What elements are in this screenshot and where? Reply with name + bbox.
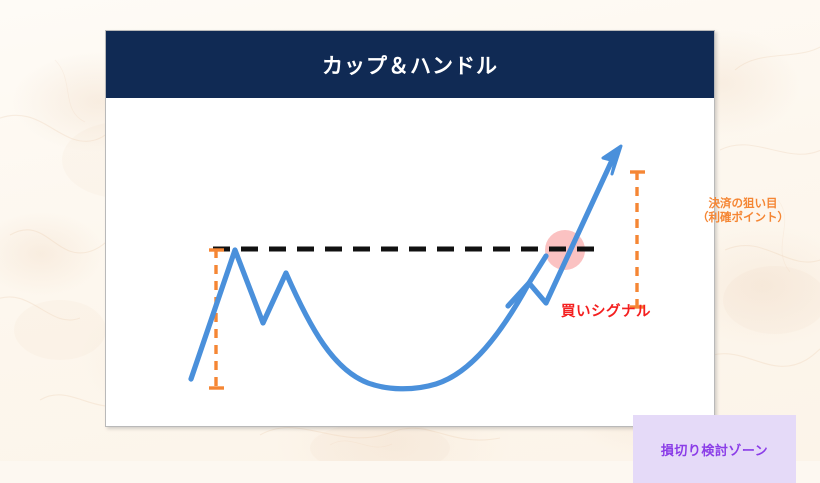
- take-profit-line-1: 決済の狙い目: [689, 197, 797, 211]
- chart-plot-area: 損切り検討ゾーン 決済の狙い目 （利確ポイント） 買いシグナル: [106, 98, 714, 426]
- page-title: カップ＆ハンドル: [322, 50, 498, 80]
- take-profit-line-2: （利確ポイント）: [689, 211, 797, 225]
- stoploss-zone-box: 損切り検討ゾーン: [633, 415, 796, 483]
- take-profit-annotation: 決済の狙い目 （利確ポイント）: [689, 197, 797, 226]
- price-line: [191, 250, 546, 389]
- cup-and-handle-chart: [106, 98, 714, 426]
- buy-signal-annotation: 買いシグナル: [561, 303, 651, 321]
- chart-card: カップ＆ハンドル: [105, 30, 715, 427]
- stoploss-zone-label: 損切り検討ゾーン: [661, 440, 768, 459]
- card-header: カップ＆ハンドル: [106, 31, 714, 98]
- target-projection-measure: [630, 171, 645, 308]
